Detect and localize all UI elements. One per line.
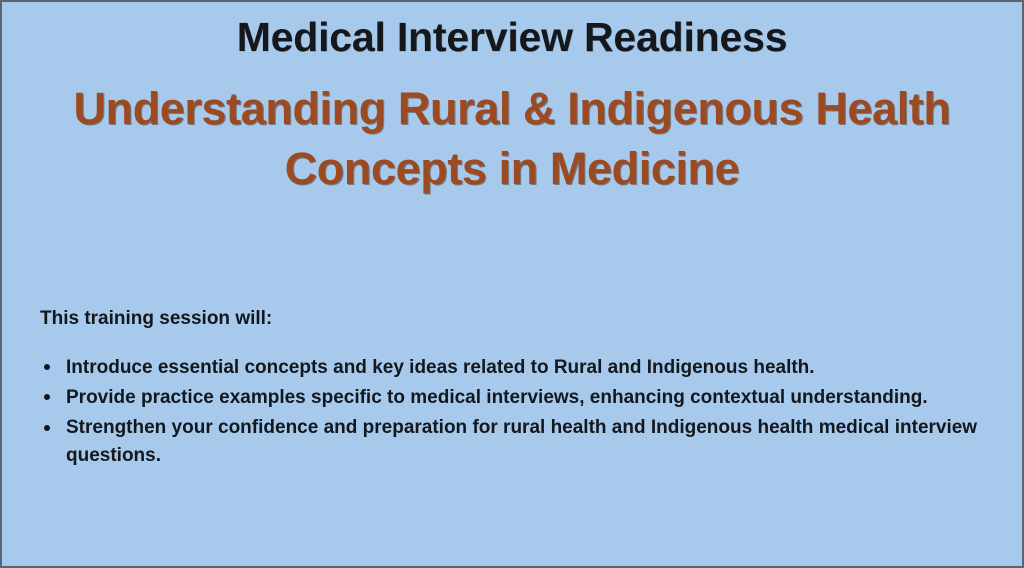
list-item: Strengthen your confidence and preparati… [40, 414, 1000, 470]
page-title: Medical Interview Readiness [2, 14, 1022, 61]
presentation-slide: Medical Interview Readiness Understandin… [0, 0, 1024, 568]
list-item: Introduce essential concepts and key ide… [40, 354, 1000, 382]
body-content: This training session will: Introduce es… [40, 307, 1000, 472]
list-item-label: Strengthen your confidence and preparati… [66, 417, 977, 466]
bullet-dot-icon [44, 425, 50, 431]
bullet-dot-icon [44, 364, 50, 370]
title-block: Medical Interview Readiness [2, 2, 1022, 61]
bullet-list: Introduce essential concepts and key ide… [40, 354, 1000, 470]
subtitle-line-1: Understanding Rural & Indigenous Health [16, 79, 1008, 138]
list-item: Provide practice examples specific to me… [40, 384, 1000, 412]
list-item-label: Provide practice examples specific to me… [66, 387, 928, 408]
lead-text: This training session will: [40, 307, 1000, 332]
subtitle-line-2: Concepts in Medicine [16, 139, 1008, 198]
bullet-dot-icon [44, 394, 50, 400]
subtitle-block: Understanding Rural & Indigenous Health … [2, 79, 1022, 198]
list-item-label: Introduce essential concepts and key ide… [66, 357, 815, 378]
